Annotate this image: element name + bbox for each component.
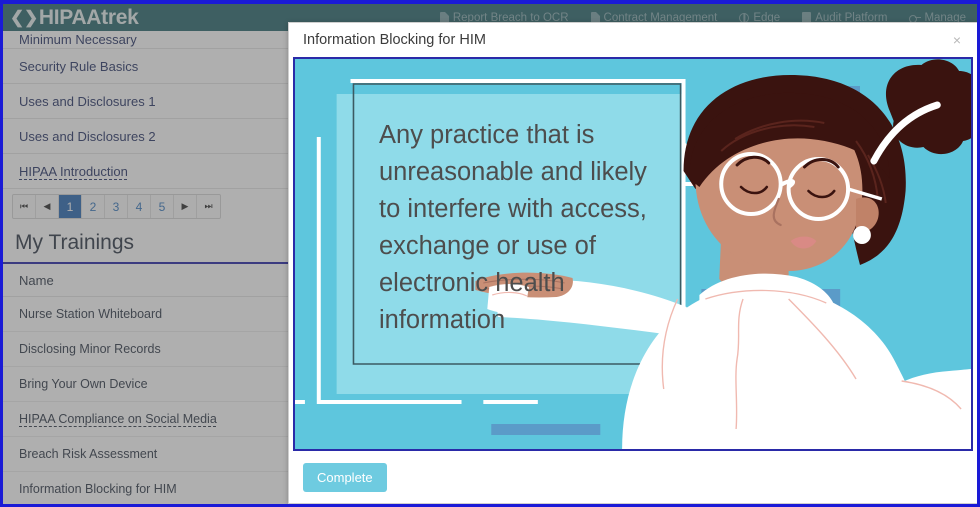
modal-header: Information Blocking for HIM × (289, 23, 977, 57)
close-icon[interactable]: × (949, 31, 965, 49)
complete-button[interactable]: Complete (303, 463, 387, 492)
modal-title: Information Blocking for HIM (303, 32, 486, 48)
app-root: ❮❯ HIPAAtrek Report Breach to OCR Contra… (0, 0, 980, 507)
slide-viewer: Any practice that is unreasonable and li… (293, 57, 973, 451)
modal-footer: Complete (289, 451, 977, 503)
training-modal: Information Blocking for HIM × (288, 22, 978, 504)
slide-illustration (295, 59, 971, 449)
